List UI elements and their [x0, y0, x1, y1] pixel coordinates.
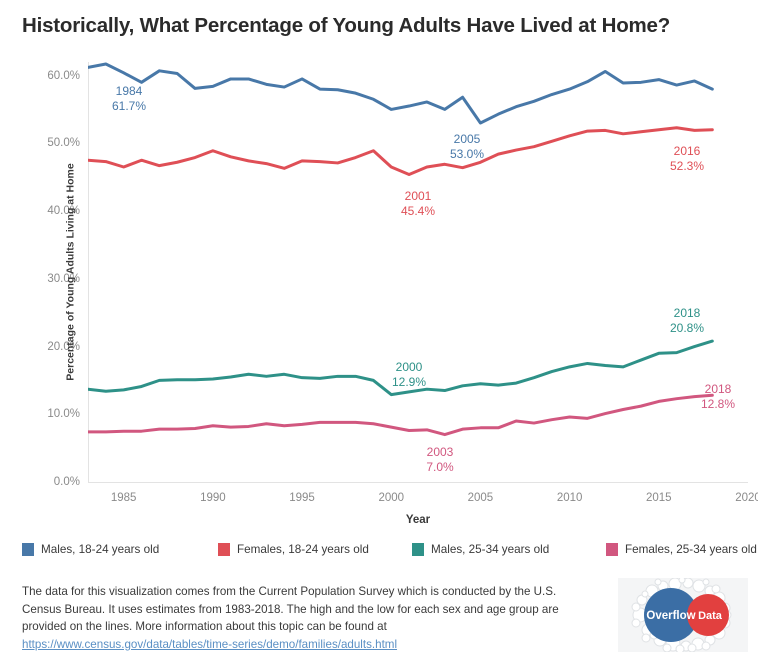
- logo-text-overflow: Overflow: [646, 610, 695, 622]
- x-axis-tick-label: 2010: [557, 492, 583, 504]
- legend-item[interactable]: Males, 25-34 years old: [412, 543, 549, 556]
- annotation-value: 61.7%: [112, 99, 146, 114]
- annotation-year: 2000: [392, 360, 426, 375]
- series-line: [88, 64, 712, 123]
- annotation-value: 20.8%: [670, 321, 704, 336]
- legend-label: Females, 18-24 years old: [237, 543, 369, 556]
- y-axis-title: Percentage of Young Adults Living at Hom…: [65, 163, 77, 380]
- data-annotation: 200145.4%: [401, 189, 435, 219]
- data-annotation: 201820.8%: [670, 306, 704, 336]
- data-annotation: 201652.3%: [670, 144, 704, 174]
- x-axis-tick-label: 2015: [646, 492, 672, 504]
- data-annotation: 198461.7%: [112, 84, 146, 114]
- x-axis-tick-label: 2005: [468, 492, 494, 504]
- x-axis-tick-label: 2000: [378, 492, 404, 504]
- footer-text: The data for this visualization comes fr…: [22, 585, 559, 633]
- y-axis-tick-label: 10.0%: [47, 408, 80, 420]
- x-axis-tick-label: 1990: [200, 492, 226, 504]
- legend-color-swatch: [22, 543, 34, 556]
- source-url-link[interactable]: https://www.census.gov/data/tables/time-…: [22, 636, 397, 654]
- logo-graphic: Overflow Data: [618, 578, 748, 652]
- y-axis-tick-label: 0.0%: [54, 476, 80, 488]
- legend-item[interactable]: Females, 18-24 years old: [218, 543, 369, 556]
- annotation-value: 53.0%: [450, 147, 484, 162]
- legend-color-swatch: [218, 543, 230, 556]
- data-annotation: 20037.0%: [426, 445, 453, 475]
- series-line: [88, 395, 712, 434]
- annotation-year: 2018: [701, 382, 735, 397]
- data-annotation: 200553.0%: [450, 132, 484, 162]
- annotation-year: 2018: [670, 306, 704, 321]
- x-axis-tick-label: 1985: [111, 492, 137, 504]
- annotation-year: 2016: [670, 144, 704, 159]
- visualization-container: Historically, What Percentage of Young A…: [0, 0, 758, 663]
- annotation-year: 2003: [426, 445, 453, 460]
- series-line: [88, 128, 712, 175]
- x-axis-line: [88, 482, 748, 483]
- legend-color-swatch: [606, 543, 618, 556]
- y-axis-title-wrap: Percentage of Young Adults Living at Hom…: [20, 62, 40, 482]
- annotation-value: 45.4%: [401, 204, 435, 219]
- data-annotation: 201812.8%: [701, 382, 735, 412]
- legend-item[interactable]: Males, 18-24 years old: [22, 543, 159, 556]
- y-axis-tick-label: 60.0%: [47, 70, 80, 82]
- footer-note: The data for this visualization comes fr…: [22, 583, 592, 653]
- y-axis-tick-label: 50.0%: [47, 137, 80, 149]
- chart-legend: Males, 18-24 years oldFemales, 18-24 yea…: [22, 543, 742, 565]
- legend-color-swatch: [412, 543, 424, 556]
- legend-label: Males, 18-24 years old: [41, 543, 159, 556]
- annotation-value: 7.0%: [426, 460, 453, 475]
- annotation-year: 2001: [401, 189, 435, 204]
- legend-label: Females, 25-34 years old: [625, 543, 757, 556]
- line-chart-plot: [88, 62, 748, 482]
- legend-label: Males, 25-34 years old: [431, 543, 549, 556]
- x-axis-title: Year: [406, 514, 430, 526]
- annotation-value: 12.9%: [392, 375, 426, 390]
- overflow-data-logo: Overflow Data: [618, 578, 748, 652]
- annotation-value: 52.3%: [670, 159, 704, 174]
- annotation-year: 1984: [112, 84, 146, 99]
- annotation-value: 12.8%: [701, 397, 735, 412]
- x-axis-tick-label: 1995: [289, 492, 315, 504]
- annotation-year: 2005: [450, 132, 484, 147]
- legend-item[interactable]: Females, 25-34 years old: [606, 543, 757, 556]
- page-title: Historically, What Percentage of Young A…: [22, 14, 670, 38]
- logo-text-data: Data: [698, 610, 723, 622]
- data-annotation: 200012.9%: [392, 360, 426, 390]
- x-axis-tick-label: 2020: [735, 492, 758, 504]
